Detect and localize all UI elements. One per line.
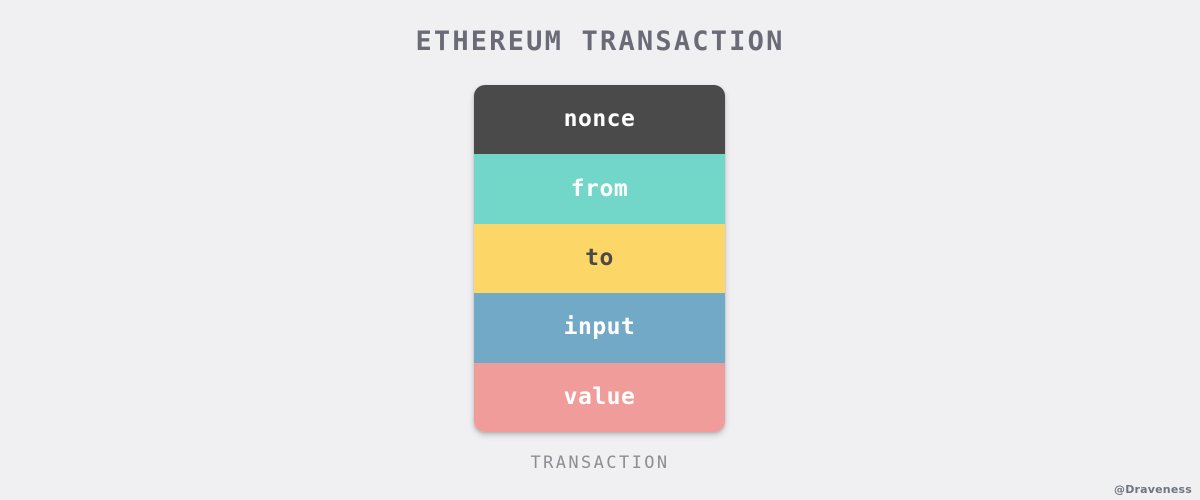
field-block-value: value [474,363,725,432]
field-label-nonce: nonce [564,108,636,131]
diagram-canvas: ETHEREUM TRANSACTION nonce from to input… [0,0,1200,500]
diagram-caption: TRANSACTION [0,455,1200,472]
transaction-card: nonce from to input value [474,85,725,432]
field-label-input: input [564,316,636,339]
field-block-to: to [474,224,725,293]
watermark-attribution: @Draveness [1114,484,1192,495]
field-block-nonce: nonce [474,85,725,154]
transaction-stack: nonce from to input value [474,85,725,432]
field-label-value: value [564,386,636,409]
field-label-to: to [585,247,614,270]
field-label-from: from [571,178,628,201]
field-block-input: input [474,293,725,362]
page-title: ETHEREUM TRANSACTION [0,28,1200,55]
field-block-from: from [474,154,725,223]
